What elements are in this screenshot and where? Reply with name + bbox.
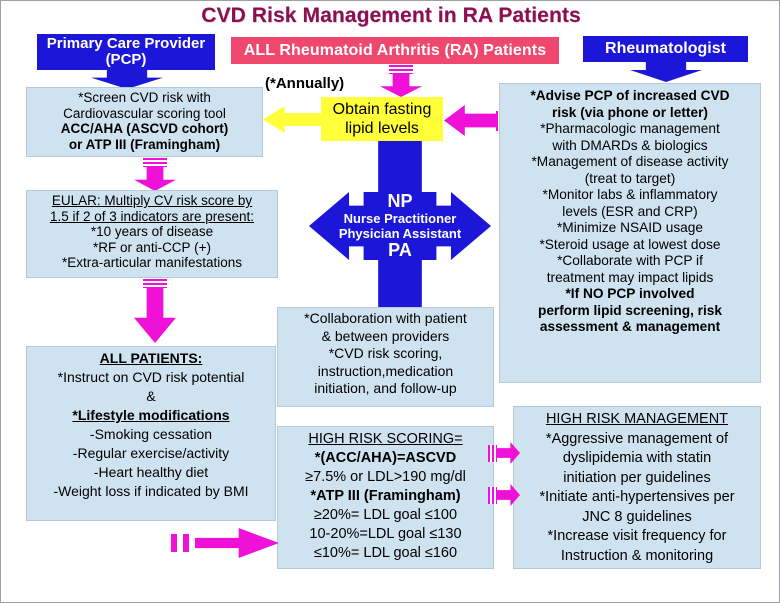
all-patients-line-1: *Instruct on CVD risk potential: [30, 368, 272, 387]
mgmt-line-0: HIGH RISK MANAGEMENT: [517, 410, 757, 430]
fasting-lipids-line-1: lipid levels: [333, 119, 432, 138]
all-patients-line-4: -Smoking cessation: [30, 425, 272, 444]
annually-note: (*Annually): [265, 75, 344, 92]
scoring-line-5: 10-20%=LDL goal ≤130: [281, 525, 490, 544]
rheum-line-6: *Monitor labs & inflammatory: [503, 187, 757, 204]
arrow-lipids-to-screen-cvd: [263, 106, 327, 133]
fasting-lipids-line-0: Obtain fasting: [333, 100, 432, 119]
all-patients-line-3: *Lifestyle modifications: [30, 406, 272, 425]
scoring-line-3: *ATP III (Framingham): [281, 487, 490, 506]
flowchart-canvas: CVD Risk Management in RA Patients Prima…: [0, 0, 780, 603]
eular-line-3: *RF or anti-CCP (+): [30, 240, 274, 256]
arrow-all-patients-to-scoring: [195, 528, 279, 558]
collab-line-4: initiation, and follow-up: [281, 380, 490, 398]
all-patients-line-2: &: [30, 387, 272, 406]
mgmt-line-7: Instruction & monitoring: [517, 547, 757, 567]
arrow-rheum-to-fasting-lipids: [444, 105, 496, 136]
header-primary-care-provider[interactable]: Primary Care Provider (PCP): [37, 34, 215, 70]
scoring-line-4: ≥20%= LDL goal ≤100: [281, 506, 490, 525]
arrow-tail-stripes-scoring-to-mgmt-2: [488, 487, 497, 504]
mgmt-line-4: *Initiate anti-hypertensives per: [517, 488, 757, 508]
rheum-line-11: treatment may impact lipids: [503, 270, 757, 287]
scoring-line-0: HIGH RISK SCORING=: [281, 430, 490, 449]
arrow-tail-tick-2-all-patients-to-scoring: [183, 534, 189, 552]
all-patients-line-7: -Weight loss if indicated by BMI: [30, 482, 272, 501]
rheum-line-14: assessment & management: [503, 319, 757, 336]
rheum-line-13: perform lipid screening, risk: [503, 303, 757, 320]
rheum-line-1: risk (via phone or letter): [503, 105, 757, 122]
scoring-line-6: ≤10%= LDL goal ≤160: [281, 544, 490, 563]
mgmt-line-1: *Aggressive management of: [517, 430, 757, 450]
arrow-eular-to-all-patients: [134, 287, 176, 343]
all-patients-line-0: ALL PATIENTS:: [30, 349, 272, 368]
np-pa-cross: NP Nurse Practitioner Physician Assistan…: [309, 141, 491, 311]
rheum-line-10: *Collaborate with PCP if: [503, 253, 757, 270]
collab-line-2: *CVD risk scoring,: [281, 345, 490, 363]
rheumatologist-label: Rheumatologist: [605, 41, 726, 57]
mgmt-line-2: dyslipidemia with statin: [517, 449, 757, 469]
arrow-tail-stripes-scoring-to-mgmt-1: [488, 445, 497, 462]
rheum-line-0: *Advise PCP of increased CVD: [503, 88, 757, 105]
mgmt-line-3: initiation per guidelines: [517, 469, 757, 489]
all-ra-patients-label: ALL Rheumatoid Arthritis (RA) Patients: [244, 42, 546, 60]
rheum-line-3: with DMARDs & biologics: [503, 138, 757, 155]
rheum-line-7: levels (ESR and CRP): [503, 204, 757, 221]
rheumatologist-actions-box: *Advise PCP of increased CVD risk (via p…: [499, 83, 761, 383]
mgmt-line-6: *Increase visit frequency for: [517, 527, 757, 547]
rheum-line-5: (treat to target): [503, 171, 757, 188]
arrow-tail-stripes-screen-to-eular: [143, 158, 167, 167]
all-patients-line-5: -Regular exercise/activity: [30, 444, 272, 463]
rheum-line-4: *Management of disease activity: [503, 154, 757, 171]
collab-line-1: & between providers: [281, 328, 490, 346]
screen-cvd-line-3: or ATP III (Framingham): [30, 137, 259, 153]
all-patients-box: ALL PATIENTS: *Instruct on CVD risk pote…: [26, 346, 276, 521]
screen-cvd-line-2: ACC/AHA (ASCVD cohort): [30, 121, 259, 137]
collaboration-box: *Collaboration with patient & between pr…: [277, 307, 494, 407]
collab-line-3: instruction,medication: [281, 363, 490, 381]
arrow-ra-to-fasting-lipids: [380, 73, 422, 97]
pcp-label-line1: Primary Care Provider: [47, 36, 205, 52]
eular-line-2: *10 years of disease: [30, 224, 274, 240]
rheum-line-8: *Minimize NSAID usage: [503, 220, 757, 237]
screen-cvd-line-0: *Screen CVD risk with: [30, 90, 259, 106]
mgmt-line-5: JNC 8 guidelines: [517, 508, 757, 528]
eular-line-1: 1.5 if 2 of 3 indicators are present:: [30, 209, 274, 225]
arrow-screen-to-eular: [134, 166, 176, 191]
rheum-line-9: *Steroid usage at lowest dose: [503, 237, 757, 254]
eular-line-0: EULAR: Multiply CV risk score by: [30, 193, 274, 209]
high-risk-management-box: HIGH RISK MANAGEMENT *Aggressive managem…: [513, 406, 761, 569]
screen-cvd-line-1: Cardiovascular scoring tool: [30, 106, 259, 122]
eular-line-4: *Extra-articular manifestations: [30, 255, 274, 271]
rheum-line-2: *Pharmacologic management: [503, 121, 757, 138]
arrow-tail-stripes-ra-to-lipids: [389, 65, 413, 74]
eular-box: EULAR: Multiply CV risk score by 1.5 if …: [26, 190, 278, 278]
header-all-ra-patients[interactable]: ALL Rheumatoid Arthritis (RA) Patients: [231, 37, 559, 64]
rheum-line-12: *If NO PCP involved: [503, 286, 757, 303]
obtain-fasting-lipids-box: Obtain fasting lipid levels: [321, 97, 443, 141]
page-title: CVD Risk Management in RA Patients: [1, 3, 780, 29]
scoring-line-1: *(ACC/AHA)=ASCVD: [281, 449, 490, 468]
collab-line-0: *Collaboration with patient: [281, 310, 490, 328]
np-pa-cross-shape: [309, 141, 491, 311]
rheumatologist-down-arrow: [630, 62, 702, 82]
arrow-tail-stripes-eular-to-all-patients: [143, 279, 167, 288]
all-patients-line-6: -Heart healthy diet: [30, 463, 272, 482]
arrow-tail-tick-1-all-patients-to-scoring: [171, 534, 177, 552]
screen-cvd-risk-box: *Screen CVD risk with Cardiovascular sco…: [26, 87, 263, 157]
header-rheumatologist[interactable]: Rheumatologist: [583, 36, 748, 62]
high-risk-scoring-box: HIGH RISK SCORING= *(ACC/AHA)=ASCVD ≥7.5…: [277, 426, 494, 569]
scoring-line-2: ≥7.5% or LDL>190 mg/dl: [281, 468, 490, 487]
pcp-label-line2: (PCP): [47, 52, 205, 68]
